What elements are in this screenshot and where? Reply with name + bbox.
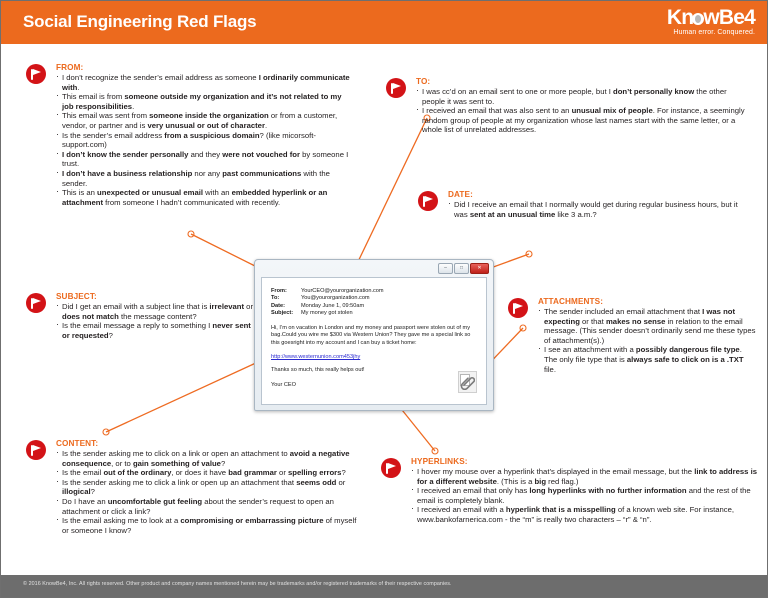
- email-window-mockup: – □ ✕ From:YourCEO@yourorganization.comT…: [254, 259, 494, 411]
- section-to-title: TO:: [416, 77, 747, 86]
- list-item: I received an email that only has long h…: [411, 486, 758, 505]
- section-content: CONTENT: Is the sender asking me to clic…: [27, 439, 357, 535]
- list-item: Is the sender asking me to click a link …: [56, 478, 357, 497]
- copyright-text: © 2016 KnowBe4, Inc. All rights reserved…: [23, 581, 452, 587]
- list-item: I see an attachment with a possibly dang…: [538, 345, 757, 374]
- section-hyperlinks: HYPERLINKS: I hover my mouse over a hype…: [382, 457, 758, 525]
- email-header-value: You@yourorganization.com: [301, 295, 477, 302]
- email-header-row: To:You@yourorganization.com: [271, 295, 477, 302]
- list-item: I hover my mouse over a hyperlink that’s…: [411, 467, 758, 486]
- page-title: Social Engineering Red Flags: [23, 12, 256, 32]
- email-header-row: Subject:My money got stolen: [271, 310, 477, 317]
- email-closing-line-1: Thanks so much, this really helps out!: [271, 367, 477, 375]
- logo-text-2: wBe4: [703, 6, 755, 29]
- list-item: Is the email asking me to look at a comp…: [56, 516, 357, 535]
- list-item: Is the sender asking me to click on a li…: [56, 449, 357, 468]
- infographic-poster: Social Engineering Red Flags KnwBe4 Huma…: [0, 0, 768, 598]
- section-from: FROM: I don’t recognize the sender’s ema…: [27, 63, 353, 207]
- list-item: Is the email message a reply to somethin…: [56, 321, 257, 340]
- list-item: Did I get an email with a subject line t…: [56, 302, 257, 321]
- list-item: I received an email with a hyperlink tha…: [411, 505, 758, 524]
- section-attachments: ATTACHMENTS: The sender included an emai…: [509, 297, 757, 374]
- knowbe4-logo: KnwBe4 Human error. Conquered.: [667, 7, 755, 37]
- logo-text-1: Kn: [667, 6, 693, 29]
- section-subject: SUBJECT: Did I get an email with a subje…: [27, 292, 257, 340]
- section-from-title: FROM:: [56, 63, 353, 72]
- email-body-text: Hi, I’m on vacation in London and my mon…: [271, 325, 477, 348]
- section-from-list: I don’t recognize the sender’s email add…: [56, 73, 353, 207]
- email-header-value: Monday June 1, 09:50am: [301, 303, 477, 310]
- list-item: I don’t recognize the sender’s email add…: [56, 73, 353, 92]
- red-flag-icon: [26, 293, 46, 313]
- list-item: Did I receive an email that I normally w…: [448, 200, 749, 219]
- email-header-key: Date:: [271, 303, 301, 310]
- section-attachments-list: The sender included an email attachment …: [538, 307, 757, 374]
- list-item: I don’t have a business relationship nor…: [56, 169, 353, 188]
- section-to: TO: I was cc’d on an email sent to one o…: [387, 77, 747, 135]
- section-hyperlinks-title: HYPERLINKS:: [411, 457, 758, 466]
- section-to-list: I was cc’d on an email sent to one or mo…: [416, 87, 747, 135]
- list-item: This email is from someone outside my or…: [56, 92, 353, 111]
- email-content-pane: From:YourCEO@yourorganization.comTo:You@…: [261, 277, 487, 405]
- window-controls: – □ ✕: [438, 263, 489, 274]
- close-button[interactable]: ✕: [470, 263, 489, 274]
- email-header-value: My money got stolen: [301, 310, 477, 317]
- red-flag-icon: [26, 440, 46, 460]
- email-header-key: Subject:: [271, 310, 301, 317]
- red-flag-icon: [381, 458, 401, 478]
- red-flag-icon: [386, 78, 406, 98]
- list-item: I was cc’d on an email sent to one or mo…: [416, 87, 747, 106]
- list-item: The sender included an email attachment …: [538, 307, 757, 345]
- minimize-button[interactable]: –: [438, 263, 453, 274]
- list-item: Is the sender’s email address from a sus…: [56, 131, 353, 150]
- list-item: I received an email that was also sent t…: [416, 106, 747, 135]
- list-item: This email was sent from someone inside …: [56, 111, 353, 130]
- email-header-row: Date:Monday June 1, 09:50am: [271, 303, 477, 310]
- logo-wordmark: KnwBe4: [667, 7, 755, 29]
- maximize-button[interactable]: □: [454, 263, 469, 274]
- section-date: DATE: Did I receive an email that I norm…: [419, 190, 749, 219]
- page-footer: © 2016 KnowBe4, Inc. All rights reserved…: [1, 575, 767, 597]
- section-attachments-title: ATTACHMENTS:: [538, 297, 757, 306]
- section-content-list: Is the sender asking me to click on a li…: [56, 449, 357, 535]
- section-subject-list: Did I get an email with a subject line t…: [56, 302, 257, 340]
- email-header-key: From:: [271, 288, 301, 295]
- section-content-title: CONTENT:: [56, 439, 357, 448]
- red-flag-icon: [26, 64, 46, 84]
- red-flag-icon: [418, 191, 438, 211]
- list-item: Is the email out of the ordinary, or doe…: [56, 468, 357, 478]
- section-date-list: Did I receive an email that I normally w…: [448, 200, 749, 219]
- section-hyperlinks-list: I hover my mouse over a hyperlink that’s…: [411, 467, 758, 525]
- page-header: Social Engineering Red Flags KnwBe4 Huma…: [1, 1, 767, 44]
- red-flag-icon: [508, 298, 528, 318]
- list-item: I don’t know the sender personally and t…: [56, 150, 353, 169]
- paperclip-icon[interactable]: [458, 371, 477, 393]
- phishing-link[interactable]: http://www.westernunion.com453jhy: [271, 354, 477, 360]
- email-header-row: From:YourCEO@yourorganization.com: [271, 288, 477, 295]
- email-headers: From:YourCEO@yourorganization.comTo:You@…: [271, 288, 477, 318]
- email-header-value: YourCEO@yourorganization.com: [301, 288, 477, 295]
- section-date-title: DATE:: [448, 190, 749, 199]
- window-titlebar: – □ ✕: [257, 262, 491, 276]
- list-item: Do I have an uncomfortable gut feeling a…: [56, 497, 357, 516]
- section-subject-title: SUBJECT:: [56, 292, 257, 301]
- list-item: This is an unexpected or unusual email w…: [56, 188, 353, 207]
- email-header-key: To:: [271, 295, 301, 302]
- logo-tagline: Human error. Conquered.: [667, 28, 755, 37]
- email-closing-line-2: Your CEO: [271, 382, 477, 390]
